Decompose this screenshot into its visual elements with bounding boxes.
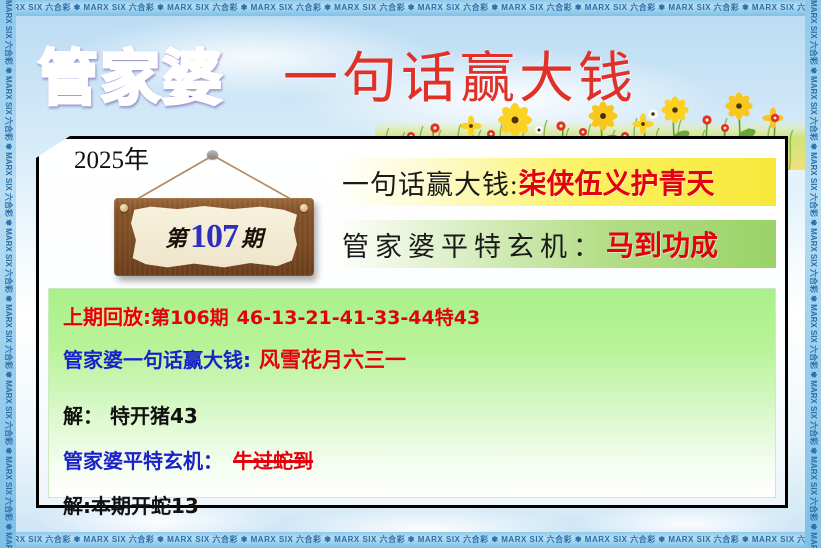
replay-label: 上期回放: [63, 301, 151, 330]
brand-title: 管家婆 [38, 30, 224, 117]
row-ping-te-xuan-ji: 管家婆平特玄机： 牛过蛇到 [63, 445, 775, 474]
replay-special-prefix: 特 [435, 303, 454, 330]
border-top-text: MARX SIX 六合彩 ✾ MARX SIX 六合彩 ✾ MARX SIX 六… [0, 3, 821, 12]
xuanji-label: 管家婆平特玄机： [63, 445, 223, 474]
row-explain-1: 解： 特开猪43 [63, 400, 775, 429]
banner-yellow-value: 柒侠伍义护青天 [519, 162, 715, 202]
xuanji-value: 牛过蛇到 [233, 445, 313, 474]
banner-yi-ju-hua: 一句话赢大钱: 柒侠伍义护青天 [332, 158, 776, 206]
prev-phrase-value: 风雪花月六三一 [259, 344, 406, 374]
row-explain-2: 解:本期开蛇13 [63, 490, 775, 519]
plaque-paper: 第 107 期 [131, 206, 297, 268]
poster-canvas: 管家婆 一句话赢大钱 2025年 第 107 期 一句话赢大钱: [0, 0, 821, 548]
replay-special-number: 43 [454, 307, 480, 329]
plaque-board: 第 107 期 [114, 198, 314, 276]
header-slogan: 一句话赢大钱 [283, 33, 637, 113]
border-right-text: MARX SIX 六合彩 ✾ MARX SIX 六合彩 ✾ MARX SIX 六… [805, 0, 821, 548]
border-left-text: MARX SIX 六合彩 ✾ MARX SIX 六合彩 ✾ MARX SIX 六… [0, 0, 16, 548]
border-left: MARX SIX 六合彩 ✾ MARX SIX 六合彩 ✾ MARX SIX 六… [0, 0, 16, 548]
banner-green-label: 管家婆平特玄机： [342, 225, 606, 264]
banner-green-value: 马到功成 [606, 224, 718, 264]
border-bottom-text: MARX SIX 六合彩 ✾ MARX SIX 六合彩 ✾ MARX SIX 六… [0, 535, 821, 544]
banner-ping-te-xuan-ji: 管家婆平特玄机： 马到功成 [332, 220, 776, 268]
plaque-screw-right-icon [300, 204, 308, 212]
border-top: MARX SIX 六合彩 ✾ MARX SIX 六合彩 ✾ MARX SIX 六… [0, 0, 821, 16]
issue-suffix: 期 [241, 221, 263, 253]
plaque-screw-left-icon [120, 204, 128, 212]
hanging-plaque: 第 107 期 [100, 150, 330, 285]
issue-number: 107 [190, 218, 238, 256]
row-yi-ju-hua-prev: 管家婆一句话赢大钱: 风雪花月六三一 [63, 344, 775, 374]
row-last-issue-replay: 上期回放: 第106期 46-13-21-41-33-44 特 43 [63, 301, 775, 330]
prev-phrase-label: 管家婆一句话赢大钱: [63, 344, 251, 373]
border-right: MARX SIX 六合彩 ✾ MARX SIX 六合彩 ✾ MARX SIX 六… [805, 0, 821, 548]
banner-yellow-label: 一句话赢大钱: [342, 163, 519, 202]
replay-issue: 第106期 [151, 303, 229, 330]
explain-1-text: 解： 特开猪43 [63, 400, 198, 429]
border-bottom: MARX SIX 六合彩 ✾ MARX SIX 六合彩 ✾ MARX SIX 六… [0, 532, 821, 548]
content-green-box: 上期回放: 第106期 46-13-21-41-33-44 特 43 管家婆一句… [48, 288, 776, 498]
explain-2-text: 解:本期开蛇13 [63, 490, 199, 519]
issue-prefix: 第 [165, 221, 187, 253]
replay-numbers: 46-13-21-41-33-44 [237, 307, 435, 329]
